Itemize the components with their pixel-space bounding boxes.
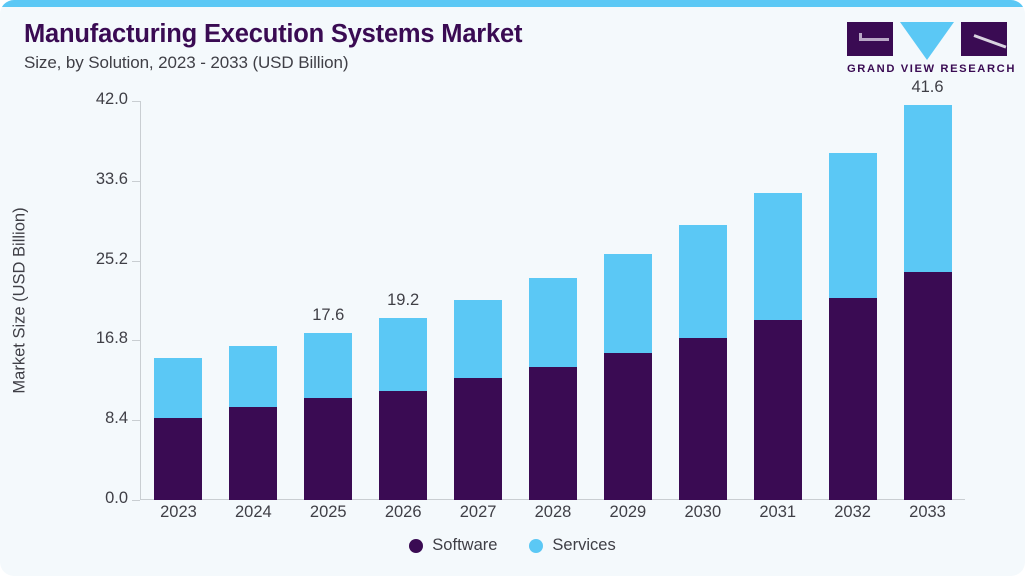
logo-wordmark: GRAND VIEW RESEARCH xyxy=(847,63,1007,75)
x-axis-labels: 2023202420252026202720282029203020312032… xyxy=(141,503,965,522)
y-axis-tick-mark xyxy=(132,340,140,341)
stacked-bar[interactable] xyxy=(454,300,502,500)
legend-label: Services xyxy=(552,536,615,555)
bar-segment-services[interactable] xyxy=(229,346,277,407)
y-axis-tick-label: 25.2 xyxy=(96,250,128,269)
plot-area: 0.08.416.825.233.642.0 Market Size (USD … xyxy=(140,101,965,500)
bar-segment-software[interactable] xyxy=(829,298,877,500)
grand-view-research-logo: GRAND VIEW RESEARCH xyxy=(847,22,1007,75)
bar-segment-software[interactable] xyxy=(529,367,577,500)
logo-right-block-icon xyxy=(961,22,1007,56)
bar-segment-services[interactable] xyxy=(529,278,577,367)
bar-segment-services[interactable] xyxy=(379,318,427,391)
stacked-bar[interactable] xyxy=(229,346,277,500)
stacked-bar[interactable] xyxy=(154,358,202,500)
legend-swatch-icon xyxy=(529,539,543,553)
chart-legend: SoftwareServices xyxy=(0,536,1025,555)
legend-label: Software xyxy=(432,536,497,555)
stacked-bar[interactable] xyxy=(904,105,952,500)
bar-group[interactable] xyxy=(665,101,740,500)
chart-title: Manufacturing Execution Systems Market xyxy=(24,20,844,49)
x-axis-label: 2033 xyxy=(890,503,965,522)
x-axis-label: 2031 xyxy=(740,503,815,522)
y-axis-tick-mark xyxy=(132,101,140,102)
bar-segment-services[interactable] xyxy=(754,193,802,319)
x-axis-label: 2023 xyxy=(141,503,216,522)
bar-segment-services[interactable] xyxy=(604,254,652,353)
x-axis-label: 2032 xyxy=(815,503,890,522)
y-axis-tick-label: 33.6 xyxy=(96,170,128,189)
y-axis-tick-label: 0.0 xyxy=(105,489,128,508)
bar-segment-services[interactable] xyxy=(454,300,502,379)
bar-segment-services[interactable] xyxy=(304,333,352,399)
x-axis-label: 2025 xyxy=(291,503,366,522)
y-axis-tick-mark xyxy=(132,420,140,421)
bar-group[interactable]: 19.2 xyxy=(366,101,441,500)
y-axis-tick-mark xyxy=(132,261,140,262)
bar-segment-services[interactable] xyxy=(679,225,727,337)
bar-segment-software[interactable] xyxy=(754,320,802,501)
bar-segment-software[interactable] xyxy=(454,378,502,500)
x-axis-label: 2026 xyxy=(366,503,441,522)
bar-segment-software[interactable] xyxy=(229,407,277,500)
y-axis-title: Market Size (USD Billion) xyxy=(11,91,30,511)
y-axis-tick-mark xyxy=(132,181,140,182)
bar-value-label: 41.6 xyxy=(911,78,943,97)
logo-left-block-icon xyxy=(847,22,893,56)
y-axis-tick-label: 8.4 xyxy=(105,409,128,428)
chart-card: Manufacturing Execution Systems Market S… xyxy=(0,0,1025,576)
chart-header: Manufacturing Execution Systems Market S… xyxy=(24,20,844,73)
bar-value-label: 17.6 xyxy=(312,306,344,325)
legend-item[interactable]: Services xyxy=(529,536,615,555)
bar-segment-services[interactable] xyxy=(154,358,202,418)
bar-group[interactable] xyxy=(216,101,291,500)
bar-segment-software[interactable] xyxy=(154,418,202,500)
logo-marks xyxy=(847,22,1007,58)
stacked-bar[interactable] xyxy=(754,193,802,500)
logo-triangle-icon xyxy=(900,22,954,60)
bar-segment-services[interactable] xyxy=(829,153,877,297)
bar-segment-software[interactable] xyxy=(379,391,427,500)
bar-segment-software[interactable] xyxy=(304,398,352,500)
bar-group[interactable]: 41.6 xyxy=(890,101,965,500)
legend-item[interactable]: Software xyxy=(409,536,497,555)
stacked-bar[interactable] xyxy=(604,254,652,500)
chart-subtitle: Size, by Solution, 2023 - 2033 (USD Bill… xyxy=(24,53,844,73)
y-axis-tick-mark xyxy=(132,500,140,501)
bar-segment-services[interactable] xyxy=(904,105,952,272)
bar-group[interactable] xyxy=(740,101,815,500)
stacked-bar[interactable] xyxy=(829,153,877,500)
x-axis-label: 2028 xyxy=(516,503,591,522)
y-axis-tick-label: 16.8 xyxy=(96,329,128,348)
bar-segment-software[interactable] xyxy=(604,353,652,500)
bar-group[interactable] xyxy=(815,101,890,500)
bar-group[interactable]: 17.6 xyxy=(291,101,366,500)
bar-segment-software[interactable] xyxy=(679,338,727,500)
y-axis-tick-label: 42.0 xyxy=(96,90,128,109)
x-axis-label: 2029 xyxy=(590,503,665,522)
x-axis-label: 2024 xyxy=(216,503,291,522)
x-axis-label: 2027 xyxy=(441,503,516,522)
top-accent-bar xyxy=(0,0,1025,7)
bar-group[interactable] xyxy=(441,101,516,500)
x-axis-label: 2030 xyxy=(665,503,740,522)
bar-group[interactable] xyxy=(590,101,665,500)
stacked-bar[interactable] xyxy=(529,278,577,500)
bar-series-container: 17.619.241.6 xyxy=(141,101,965,500)
stacked-bar[interactable] xyxy=(304,333,352,500)
bar-segment-software[interactable] xyxy=(904,272,952,500)
stacked-bar[interactable] xyxy=(379,318,427,500)
bar-group[interactable] xyxy=(516,101,591,500)
stacked-bar[interactable] xyxy=(679,225,727,500)
legend-swatch-icon xyxy=(409,539,423,553)
bar-value-label: 19.2 xyxy=(387,291,419,310)
bar-group[interactable] xyxy=(141,101,216,500)
